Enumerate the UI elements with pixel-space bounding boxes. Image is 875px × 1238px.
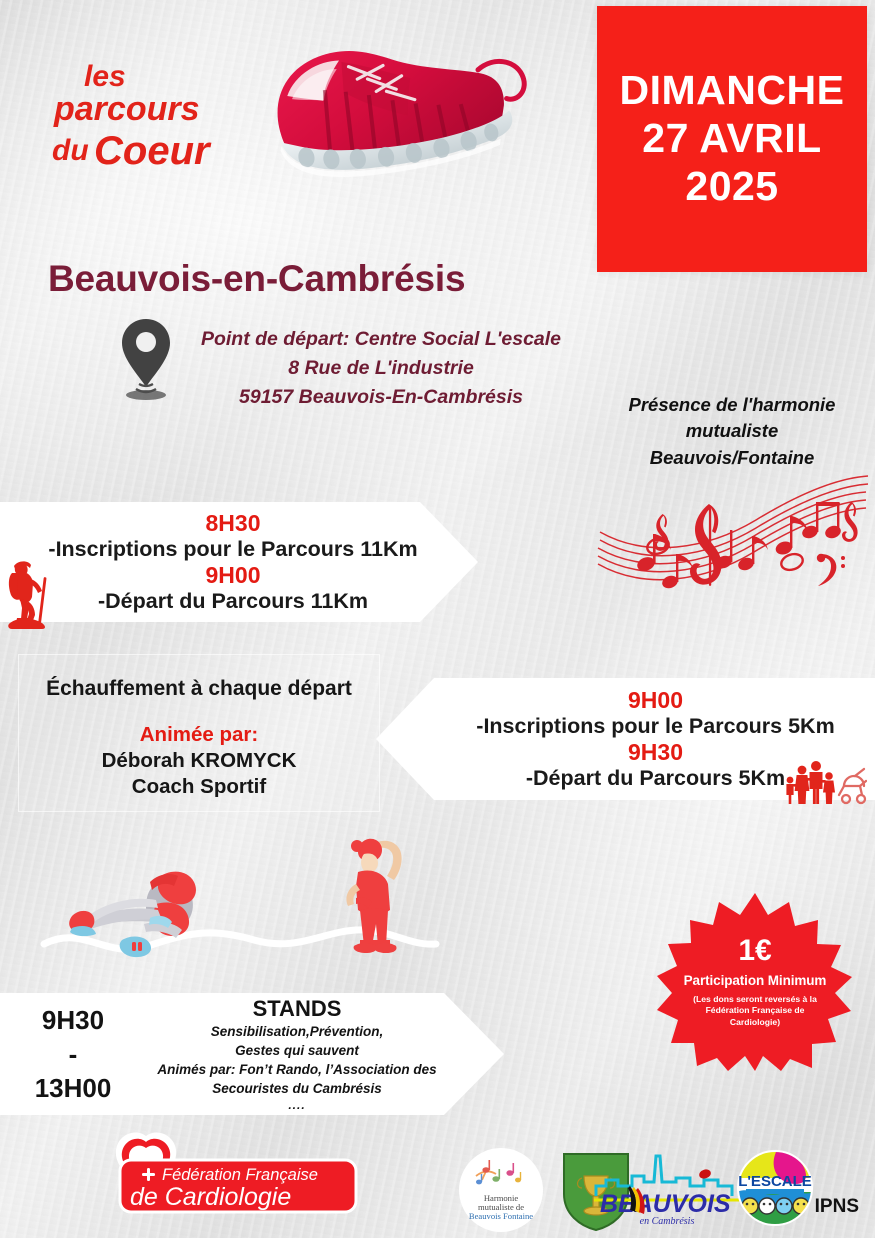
badge-price: 1€ bbox=[738, 936, 771, 966]
label-inscriptions-5km: -Inscriptions pour le Parcours 5Km bbox=[446, 714, 865, 739]
warmup-coach-name: Déborah KROMYCK bbox=[19, 749, 379, 773]
badge-note-3: Cardiologie) bbox=[730, 1017, 780, 1027]
stroller-icon bbox=[839, 769, 866, 803]
beauvois-wordmark: BEAUVOIS bbox=[600, 1190, 731, 1218]
event-date-box: DIMANCHE 27 AVRIL 2025 bbox=[597, 6, 867, 272]
warmup-panel: Échauffement à chaque départ Animée par:… bbox=[18, 654, 380, 812]
svg-text:les: les bbox=[84, 60, 126, 93]
stands-title: STANDS bbox=[142, 996, 452, 1022]
hiker-icon bbox=[2, 553, 58, 631]
address-line-2: 8 Rue de L'industrie bbox=[174, 354, 588, 383]
stands-line-3: Animés par: Fon’t Rando, l’Association d… bbox=[142, 1060, 452, 1079]
running-shoe-image bbox=[236, 18, 536, 213]
stands-body: STANDS Sensibilisation,Prévention, Geste… bbox=[142, 996, 504, 1113]
ville-de-beauvois-logo: BEAUVOIS en Cambrésis bbox=[592, 1152, 742, 1226]
warmup-by-label: Animée par: bbox=[19, 723, 379, 747]
label-inscriptions-11km: -Inscriptions pour le Parcours 11Km bbox=[28, 537, 438, 562]
stands-dots: .... bbox=[142, 1098, 452, 1112]
address-lines: Point de départ: Centre Social L'escale … bbox=[174, 315, 588, 412]
stretching-people-illustration bbox=[36, 824, 456, 1002]
svg-text:du: du bbox=[52, 134, 89, 167]
banner-parcours-11km: 8H30 -Inscriptions pour le Parcours 11Km… bbox=[0, 502, 478, 622]
harmonie-mutualiste-logo: Harmonie mutualiste de Beauvois Fontaine bbox=[452, 1146, 550, 1234]
ffc-line-1: Fédération Française bbox=[162, 1166, 318, 1184]
svg-text:parcours: parcours bbox=[53, 90, 200, 128]
harmonie-line-1: Présence de l'harmonie bbox=[607, 392, 857, 418]
date-day: DIMANCHE bbox=[620, 68, 845, 114]
family-icon bbox=[786, 761, 835, 804]
badge-note-2: Fédération Française de bbox=[706, 1005, 805, 1015]
escale-wordmark: L'ESCALE bbox=[738, 1173, 812, 1190]
label-depart-11km: -Départ du Parcours 11Km bbox=[28, 589, 438, 614]
warmup-title: Échauffement à chaque départ bbox=[19, 677, 379, 701]
music-notes-icon bbox=[594, 470, 869, 590]
badge-subtitle: Participation Minimum bbox=[684, 973, 827, 988]
stands-line-1: Sensibilisation,Prévention, bbox=[142, 1022, 452, 1041]
beauvois-subtitle: en Cambrésis bbox=[640, 1216, 695, 1226]
participation-badge: 1€ Participation Minimum (Les dons seron… bbox=[657, 893, 853, 1071]
warmup-coach-role: Coach Sportif bbox=[19, 775, 379, 799]
poster-canvas: les parcours du Coeur bbox=[0, 0, 875, 1238]
stands-line-2: Gestes qui sauvent bbox=[142, 1041, 452, 1060]
time-inscriptions-11km: 8H30 bbox=[28, 510, 438, 537]
stands-time-range: 9H30 - 13H00 bbox=[0, 1003, 142, 1106]
harmonie-line-3: Beauvois/Fontaine bbox=[607, 445, 857, 471]
harmonie-line-2: mutualiste bbox=[607, 418, 857, 444]
map-pin-icon bbox=[118, 317, 174, 403]
harmonie-logo-line-3: Beauvois Fontaine bbox=[469, 1211, 533, 1221]
city-title: Beauvois-en-Cambrésis bbox=[48, 258, 608, 300]
lescale-logo: L'ESCALE bbox=[736, 1148, 814, 1228]
harmonie-announcement: Présence de l'harmonie mutualiste Beauvo… bbox=[607, 392, 857, 471]
address-block: Point de départ: Centre Social L'escale … bbox=[118, 315, 588, 412]
stands-time-to: 13H00 bbox=[4, 1071, 142, 1105]
ipns-label: IPNS bbox=[815, 1196, 859, 1218]
address-line-1: Point de départ: Centre Social L'escale bbox=[174, 325, 588, 354]
date-year: 2025 bbox=[685, 164, 778, 210]
stands-line-4: Secouristes du Cambrésis bbox=[142, 1079, 452, 1098]
address-line-3: 59157 Beauvois-En-Cambrésis bbox=[174, 383, 588, 412]
family-and-stroller-icons bbox=[783, 758, 867, 806]
time-inscriptions-5km: 9H00 bbox=[446, 687, 865, 714]
date-date: 27 AVRIL bbox=[642, 116, 821, 162]
ffc-line-2: de Cardiologie bbox=[130, 1183, 291, 1211]
stands-time-dash: - bbox=[4, 1037, 142, 1071]
stands-time-from: 9H30 bbox=[4, 1003, 142, 1037]
banner-stands: 9H30 - 13H00 STANDS Sensibilisation,Prév… bbox=[0, 993, 504, 1115]
svg-text:Coeur: Coeur bbox=[94, 129, 212, 173]
federation-francaise-de-cardiologie-logo: Fédération Française de Cardiologie bbox=[100, 1132, 360, 1224]
badge-note-1: (Les dons seront reversés à la bbox=[693, 994, 817, 1004]
time-depart-11km: 9H00 bbox=[28, 562, 438, 589]
les-parcours-du-coeur-logo: les parcours du Coeur bbox=[52, 52, 252, 177]
